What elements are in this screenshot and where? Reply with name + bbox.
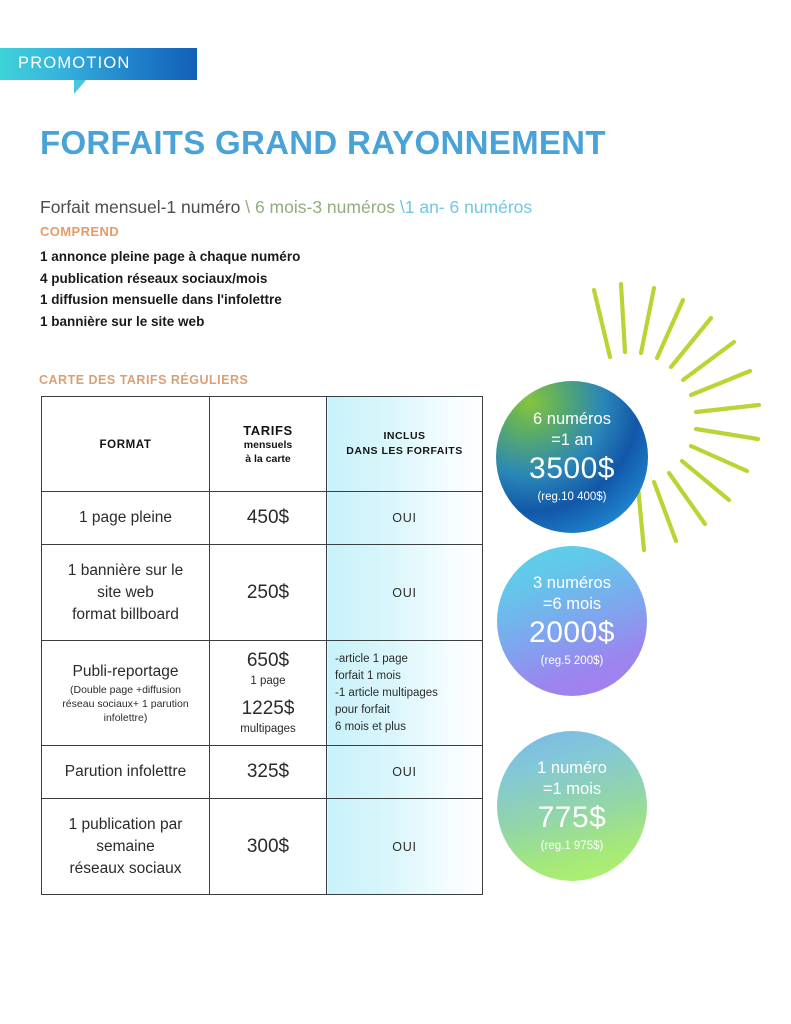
row-format-text: 1 bannière sur le: [50, 560, 201, 582]
row-inclus-note: -article 1 page: [335, 651, 474, 668]
row-price-cell: 250$: [210, 545, 327, 641]
offer-label-line1: 1 numéro: [537, 758, 607, 779]
offer-price: 2000$: [529, 615, 615, 651]
offer-regular-price: (reg.5 200$): [541, 653, 604, 669]
row-price-text: 650$: [218, 649, 318, 673]
tariff-table: FORMAT TARIFS mensuels à la carte INCLUS…: [41, 396, 483, 895]
offer-label-line2: =6 mois: [543, 594, 601, 615]
row-format-text: 1 page pleine: [50, 507, 201, 529]
list-item: 1 bannière sur le site web: [40, 311, 300, 333]
offer-badge-1-numero: 1 numéro =1 mois 775$ (reg.1 975$): [497, 731, 647, 881]
row-format-text: 1 publication par: [50, 814, 201, 836]
offer-badge-3-numeros: 3 numéros =6 mois 2000$ (reg.5 200$): [497, 546, 647, 696]
row-inclus-cell: OUI: [327, 545, 483, 641]
table-row: Publi-reportage (Double page +diffusion …: [42, 641, 483, 746]
table-header-format: FORMAT: [42, 397, 210, 492]
row-format-text: semaine: [50, 836, 201, 858]
row-inclus-cell: OUI: [327, 746, 483, 799]
row-inclus-text: OUI: [392, 586, 417, 600]
row-inclus-note: -1 article multipages: [335, 685, 474, 702]
page-title: FORFAITS GRAND RAYONNEMENT: [40, 124, 606, 162]
subtitle: Forfait mensuel-1 numéro \ 6 mois-3 numé…: [40, 197, 532, 218]
row-inclus-cell: OUI: [327, 799, 483, 895]
row-price-cell: 325$: [210, 746, 327, 799]
row-format-cell: 1 page pleine: [42, 492, 210, 545]
table-header-inclus-line2: DANS LES FORFAITS: [335, 444, 474, 459]
row-price-cell: 450$: [210, 492, 327, 545]
table-header-row: FORMAT TARIFS mensuels à la carte INCLUS…: [42, 397, 483, 492]
offer-label-line2: =1 an: [551, 430, 593, 451]
row-price-subtext: 1 page: [218, 673, 318, 689]
table-row: 1 publication par semaine réseaux sociau…: [42, 799, 483, 895]
row-price-subtext-alt: multipages: [218, 721, 318, 737]
row-price-text-alt: 1225$: [218, 697, 318, 721]
row-format-text: Publi-reportage: [50, 661, 201, 683]
table-header-tarifs-main: TARIFS: [218, 423, 318, 438]
tariff-table-label: CARTE DES TARIFS RÉGULIERS: [39, 373, 248, 387]
row-price-cell: 300$: [210, 799, 327, 895]
promotion-banner-tail-icon: [74, 80, 86, 94]
comprend-heading: COMPREND: [40, 224, 119, 239]
offer-regular-price: (reg.10 400$): [537, 489, 606, 505]
row-format-text: format billboard: [50, 604, 201, 626]
promotion-flyer-page: PROMOTION FORFAITS GRAND RAYONNEMENT For…: [0, 0, 791, 1024]
row-price-text: 300$: [218, 835, 318, 859]
table-row: 1 page pleine 450$ OUI: [42, 492, 483, 545]
offer-badge-6-numeros: 6 numéros =1 an 3500$ (reg.10 400$): [496, 381, 648, 533]
row-format-subtext: (Double page +diffusion: [50, 683, 201, 697]
promotion-banner: PROMOTION: [0, 48, 197, 80]
row-inclus-text: OUI: [392, 765, 417, 779]
row-price-cell: 650$ 1 page 1225$ multipages: [210, 641, 327, 746]
row-format-text: Parution infolettre: [50, 761, 201, 783]
offer-label-line1: 3 numéros: [533, 573, 611, 594]
row-price-text: 450$: [218, 506, 318, 530]
list-item: 1 diffusion mensuelle dans l'infolettre: [40, 289, 300, 311]
offer-price: 3500$: [529, 451, 615, 487]
table-header-inclus-line1: INCLUS: [335, 429, 474, 444]
row-format-cell: 1 bannière sur le site web format billbo…: [42, 545, 210, 641]
row-inclus-note: forfait 1 mois: [335, 668, 474, 685]
comprend-list: 1 annonce pleine page à chaque numéro 4 …: [40, 246, 300, 332]
row-format-cell: Parution infolettre: [42, 746, 210, 799]
row-format-subtext: infolettre): [50, 711, 201, 725]
subtitle-segment-sixmonths: \ 6 mois-3 numéros: [245, 197, 400, 217]
table-header-inclus: INCLUS DANS LES FORFAITS: [327, 397, 483, 492]
list-item: 4 publication réseaux sociaux/mois: [40, 268, 300, 290]
row-inclus-note: pour forfait: [335, 702, 474, 719]
row-inclus-cell: OUI: [327, 492, 483, 545]
row-inclus-text: OUI: [392, 840, 417, 854]
row-format-text: réseaux sociaux: [50, 858, 201, 880]
table-header-tarifs-sub1: mensuels: [218, 438, 318, 452]
row-format-subtext: réseau sociaux+ 1 parution: [50, 697, 201, 711]
row-format-cell: Publi-reportage (Double page +diffusion …: [42, 641, 210, 746]
row-inclus-note: 6 mois et plus: [335, 719, 474, 736]
row-inclus-cell: -article 1 page forfait 1 mois -1 articl…: [327, 641, 483, 746]
offer-regular-price: (reg.1 975$): [541, 838, 604, 854]
table-header-tarifs: TARIFS mensuels à la carte: [210, 397, 327, 492]
subtitle-segment-oneyear: \1 an- 6 numéros: [400, 197, 532, 217]
subtitle-segment-monthly: Forfait mensuel-1 numéro: [40, 197, 245, 217]
table-header-tarifs-sub2: à la carte: [218, 452, 318, 466]
offer-price: 775$: [538, 800, 607, 836]
row-price-text: 325$: [218, 760, 318, 784]
row-price-text: 250$: [218, 581, 318, 605]
list-item: 1 annonce pleine page à chaque numéro: [40, 246, 300, 268]
row-inclus-text: OUI: [392, 511, 417, 525]
offer-label-line1: 6 numéros: [533, 409, 611, 430]
promotion-banner-label: PROMOTION: [18, 54, 131, 73]
offer-label-line2: =1 mois: [543, 779, 601, 800]
table-row: 1 bannière sur le site web format billbo…: [42, 545, 483, 641]
table-row: Parution infolettre 325$ OUI: [42, 746, 483, 799]
row-format-text: site web: [50, 582, 201, 604]
row-format-cell: 1 publication par semaine réseaux sociau…: [42, 799, 210, 895]
